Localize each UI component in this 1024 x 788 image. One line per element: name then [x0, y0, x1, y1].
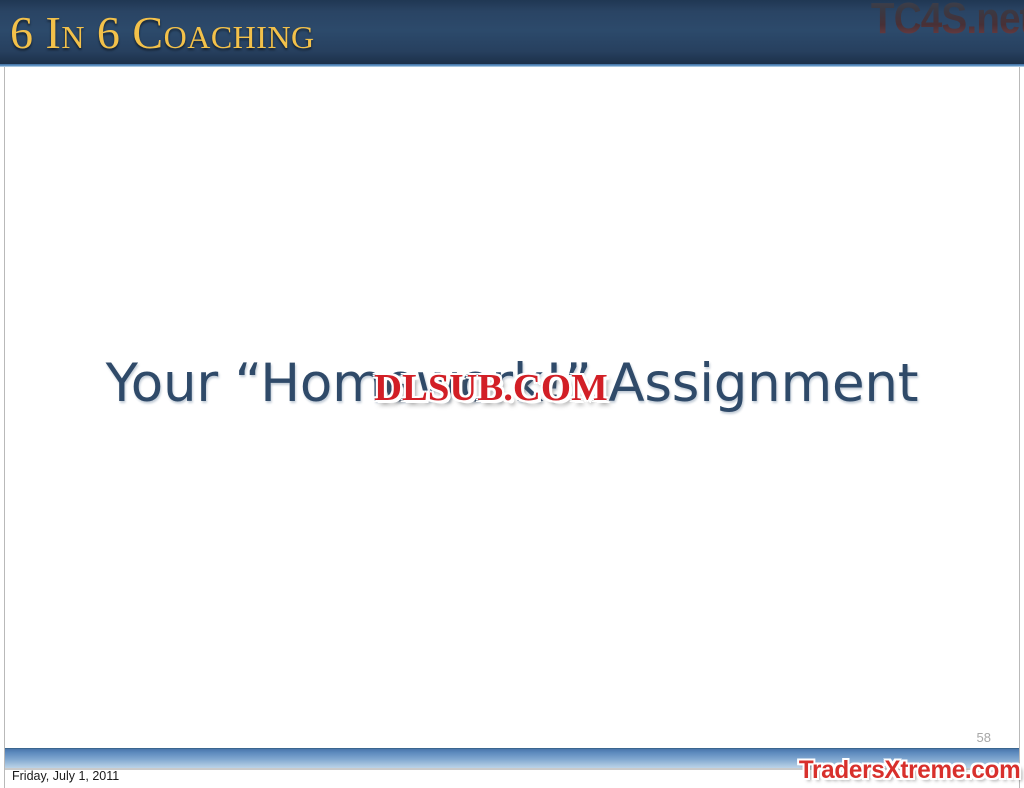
slide-right-border — [1019, 67, 1020, 788]
slide-header-banner: 6 In 6 Coaching TC4S.net — [0, 0, 1024, 64]
tradersxtreme-watermark-logo: TradersXtreme.com — [798, 756, 1020, 785]
slide-footer-date: Friday, July 1, 2011 — [12, 769, 119, 783]
tc4s-brand-logo: TC4S.net — [871, 0, 1024, 44]
slide-page-number: 58 — [977, 730, 991, 745]
slide-header-title: 6 In 6 Coaching — [10, 4, 315, 62]
slide-content-area: Your “Homework!” Assignment — [5, 67, 1019, 788]
dlsub-watermark: DLSUB.COM — [374, 368, 608, 408]
presentation-slide: 6 In 6 Coaching TC4S.net Your “Homework!… — [0, 0, 1024, 788]
